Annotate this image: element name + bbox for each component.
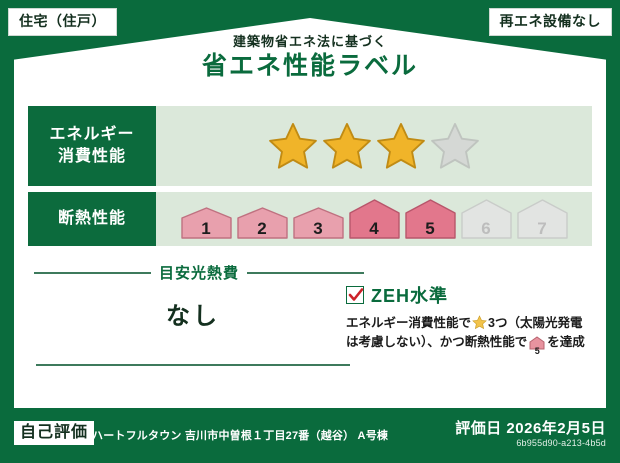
insulation-level-number: 3 (292, 220, 345, 237)
row-energy-label-line2: 消費性能 (58, 146, 126, 168)
insulation-level-6: 6 (460, 198, 513, 240)
insulation-level-3: 3 (292, 206, 345, 240)
rule-right (247, 272, 364, 274)
row-insulation-performance: 断熱性能 1234567 (28, 192, 592, 246)
star-rating (267, 121, 481, 171)
row-insulation-value: 1234567 (156, 192, 592, 246)
utility-cost-header: 目安光熱費 (34, 262, 364, 283)
insulation-level-number: 6 (460, 220, 513, 237)
row-energy-value (156, 106, 592, 186)
property-address: ハートフルタウン 吉川市中曽根１丁目27番（越谷） A号棟 (92, 427, 388, 443)
label-body: エネルギー 消費性能 断熱性能 1234567 目安光熱費 なし (14, 96, 606, 448)
zeh-desc-part3: を達成 (547, 335, 585, 349)
insulation-scale: 1234567 (180, 198, 569, 240)
insulation-level-number: 7 (516, 220, 569, 237)
star-filled-icon (375, 121, 427, 171)
insulation-level-number: 5 (404, 220, 457, 237)
zeh-desc-part2: は考慮しない）、かつ断熱性能で (346, 335, 527, 349)
zeh-checkbox[interactable] (346, 286, 364, 304)
tag-building-type: 住宅（住戸） (8, 8, 117, 36)
star-empty-icon (429, 121, 481, 171)
insulation-level-4: 4 (348, 198, 401, 240)
zeh-desc-part1: エネルギー消費性能で (346, 316, 471, 330)
insulation-level-number: 4 (348, 220, 401, 237)
utility-cost-title: 目安光熱費 (159, 262, 239, 283)
zeh-desc-stars: 3つ（太陽光発電 (488, 316, 582, 330)
insulation-badge-number: 5 (529, 347, 545, 356)
row-energy-label: エネルギー 消費性能 (28, 106, 156, 186)
insulation-level-7: 7 (516, 198, 569, 240)
insulation-level-number: 1 (180, 220, 233, 237)
insulation-level-2: 2 (236, 206, 289, 240)
insulation-level-1: 1 (180, 206, 233, 240)
insulation-level-5: 5 (404, 198, 457, 240)
row-energy-performance: エネルギー 消費性能 (28, 106, 592, 186)
row-energy-label-line1: エネルギー (49, 124, 134, 146)
check-icon (348, 287, 364, 303)
evaluation-id: 6b955d90-a213-4b5d (516, 438, 606, 448)
star-filled-icon (321, 121, 373, 171)
insulation-level-number: 2 (236, 220, 289, 237)
self-evaluation-badge: 自己評価 (14, 421, 94, 445)
star-filled-icon (267, 121, 319, 171)
tag-renewable-equipment: 再エネ設備なし (489, 8, 613, 36)
energy-performance-label: 住宅（住戸） 再エネ設備なし 建築物省エネ法に基づく 省エネ性能ラベル エネルギ… (0, 0, 620, 463)
rule-left (34, 272, 151, 274)
zeh-title: ZEH水準 (371, 282, 448, 308)
utility-cost-underline (36, 364, 350, 366)
zeh-description: エネルギー消費性能で3つ（太陽光発電 は考慮しない）、かつ断熱性能で5を達成 (346, 314, 604, 357)
row-insulation-label: 断熱性能 (28, 192, 156, 246)
insulation-badge-icon: 5 (529, 336, 545, 356)
zeh-panel: ZEH水準 エネルギー消費性能で3つ（太陽光発電 は考慮しない）、かつ断熱性能で… (346, 282, 604, 357)
footer: 自己評価 ハートフルタウン 吉川市中曽根１丁目27番（越谷） A号棟 評価日 2… (0, 408, 620, 463)
utility-cost-value: なし (34, 296, 352, 331)
zeh-header: ZEH水準 (346, 282, 604, 308)
evaluation-date: 評価日 2026年2月5日 (455, 417, 606, 438)
star-icon (472, 315, 487, 330)
